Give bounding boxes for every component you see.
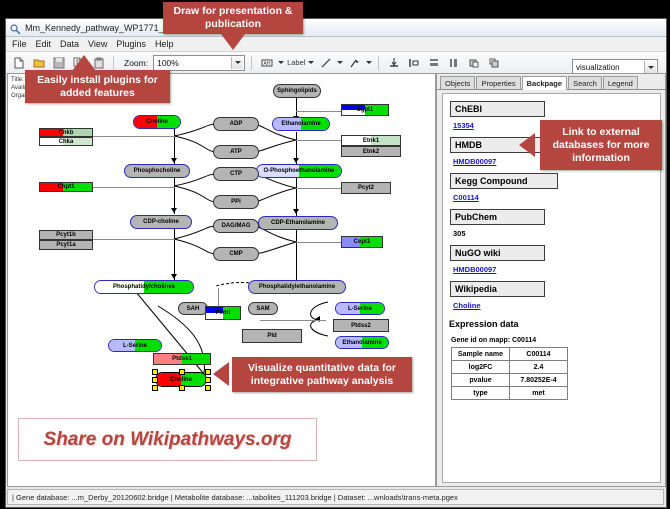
- table-row: Sample name C00114: [452, 348, 568, 361]
- db-value-pubchem: 305: [453, 229, 660, 238]
- node-label: Ptdss1: [172, 356, 192, 362]
- expression-table: Sample name C00114 log2FC 2.4 pvalue 7.8…: [451, 347, 568, 400]
- datanode-icon[interactable]: AH: [258, 54, 275, 71]
- edge-sgpl1-reaction: [296, 111, 341, 112]
- edge-cept1-reaction: [296, 242, 341, 243]
- db-header-pubchem: PubChem: [450, 209, 545, 225]
- node-label: Choline: [170, 377, 192, 383]
- same-width-icon[interactable]: [445, 54, 462, 71]
- node-ptdss2[interactable]: Ptdss2: [333, 319, 389, 332]
- node-sgpl1[interactable]: Sgpl1: [341, 104, 389, 116]
- open-folder-icon[interactable]: [30, 54, 47, 71]
- node-label: SAH: [187, 306, 200, 312]
- title-bar: Mm_Kennedy_pathway_WP1771_45176.gpml: [6, 19, 666, 37]
- line-icon[interactable]: [317, 54, 334, 71]
- callout-plugins-pointer: [72, 55, 96, 71]
- selection-handle-nw[interactable]: [152, 369, 158, 375]
- node-label: CDP-choline: [143, 219, 179, 225]
- node-label: Pcyt1b: [56, 232, 76, 238]
- node-cdp-choline[interactable]: CDP-choline: [130, 215, 192, 229]
- callout-visualize: Visualize quantitative data for integrat…: [232, 357, 412, 392]
- node-label: Sphingolipids: [277, 88, 317, 94]
- node-phosphatidylethanolamine[interactable]: Phosphatidylethanolamine: [248, 280, 346, 294]
- node-label: Ethanolamine: [342, 340, 381, 346]
- expr-value-0: C00114: [510, 348, 568, 361]
- callout-visualize-pointer: [213, 362, 229, 386]
- node-label: Etnk1: [363, 138, 379, 144]
- expr-value-3: met: [510, 387, 568, 400]
- selection-handle-se[interactable]: [205, 385, 211, 391]
- node-label: Etnk2: [363, 149, 379, 155]
- visualization-value: visualization: [576, 63, 620, 72]
- callout-link: Link to external databases for more info…: [540, 120, 662, 170]
- align-left-icon[interactable]: [405, 54, 422, 71]
- edge-pld-reaction: [260, 320, 296, 321]
- node-pcyt2[interactable]: Pcyt2: [341, 182, 391, 194]
- menu-item-file[interactable]: File: [12, 39, 27, 49]
- tab-backpage[interactable]: Backpage: [522, 76, 567, 90]
- datanode-dropdown[interactable]: [278, 61, 284, 64]
- edge-chpt1-reaction: [93, 187, 175, 188]
- tab-objects[interactable]: Objects: [440, 76, 475, 89]
- node-label: Pemt: [216, 310, 231, 316]
- chevron-down-icon[interactable]: [231, 57, 243, 69]
- node-label: Chkb: [59, 130, 74, 136]
- node-label: Phosphocholine: [134, 168, 181, 174]
- menu-item-data[interactable]: Data: [60, 39, 79, 49]
- toolbar-separator-1: [113, 56, 114, 70]
- align-top-icon[interactable]: [385, 54, 402, 71]
- selection-handle-w[interactable]: [152, 377, 158, 383]
- interaction-dropdown[interactable]: [366, 61, 372, 64]
- node-cdp-ethanolamine[interactable]: CDP-Ethanolamine: [258, 216, 338, 230]
- callout-draw-pointer: [221, 34, 245, 50]
- node-label: Chpt1: [58, 184, 75, 190]
- pathvisio-icon: [10, 22, 21, 33]
- node-label: CMP: [229, 251, 242, 257]
- node-pcyt1b[interactable]: Pcyt1b: [39, 230, 93, 240]
- edge-etnk-reaction: [296, 140, 341, 141]
- node-ethanolamine-top[interactable]: Ethanolamine: [272, 117, 330, 131]
- callout-share: Share on Wikipathways.org: [18, 418, 317, 461]
- node-adp[interactable]: ADP: [213, 117, 259, 131]
- node-cept1[interactable]: Cept1: [341, 236, 383, 248]
- zoom-value: 100%: [157, 58, 179, 68]
- expr-key-1: log2FC: [452, 361, 510, 374]
- menu-item-edit[interactable]: Edit: [36, 39, 52, 49]
- expression-data-title: Expression data: [449, 319, 660, 329]
- db-link-kegg[interactable]: C00114: [453, 193, 660, 202]
- expr-key-2: pvalue: [452, 374, 510, 387]
- node-label: Phosphatidylcholines: [113, 284, 175, 290]
- node-label: Ptdss2: [351, 323, 371, 329]
- node-label: DAG/MAG: [222, 223, 251, 229]
- visualization-chevron-icon[interactable]: [644, 61, 656, 73]
- node-label: Pcyt1a: [56, 242, 75, 248]
- gene-id-label: Gene id on mapp: C00114: [451, 337, 660, 344]
- toolbar-separator-3: [378, 56, 379, 70]
- node-l-serine-right[interactable]: L-Serine: [335, 302, 385, 315]
- db-link-nugowiki[interactable]: HMDB00097: [453, 265, 660, 274]
- callout-plugins: Easily install plugins for added feature…: [25, 70, 170, 103]
- toolbar-separator-2: [251, 56, 252, 70]
- node-label: Choline: [146, 119, 168, 125]
- node-ethanolamine-bottom[interactable]: Ethanolamine: [335, 336, 389, 349]
- same-height-icon[interactable]: [425, 54, 442, 71]
- node-etnk2[interactable]: Etnk2: [341, 146, 401, 157]
- node-cmp[interactable]: CMP: [213, 247, 259, 261]
- table-row: log2FC 2.4: [452, 361, 568, 374]
- node-pemt[interactable]: Pemt: [205, 306, 241, 320]
- node-ptdss1[interactable]: Ptdss1: [153, 353, 211, 365]
- edge-pemt-anchor: [218, 288, 219, 306]
- arrow-left-4: [315, 316, 320, 322]
- node-label: CTP: [230, 171, 242, 177]
- node-label: L-Serine: [123, 343, 147, 349]
- expr-key-3: type: [452, 387, 510, 400]
- db-header-wikipedia: Wikipedia: [450, 281, 545, 297]
- node-sah[interactable]: SAH: [178, 302, 208, 315]
- node-label: L-Serine: [348, 306, 372, 312]
- menu-item-view[interactable]: View: [88, 39, 107, 49]
- node-label: SAM: [256, 306, 269, 312]
- node-sphingolipids[interactable]: Sphingolipids: [273, 84, 321, 98]
- selection-handle-n[interactable]: [179, 369, 185, 375]
- zoom-label: Zoom:: [124, 58, 148, 68]
- edge-pcyt1-reaction: [93, 239, 175, 240]
- menu-item-help[interactable]: Help: [155, 39, 174, 49]
- node-label: Pcyt2: [358, 185, 374, 191]
- node-label: Ethanolamine: [281, 121, 320, 127]
- expr-value-1: 2.4: [510, 361, 568, 374]
- edge-chk-reaction: [93, 136, 175, 137]
- node-choline-top[interactable]: Choline: [133, 115, 181, 129]
- node-label: ADP: [230, 121, 243, 127]
- node-label: Phosphatidylethanolamine: [259, 284, 335, 290]
- selection-handle-s[interactable]: [179, 385, 185, 391]
- node-phosphatidylcholines[interactable]: Phosphatidylcholines: [94, 280, 194, 294]
- status-bar: | Gene database: ...m_Derby_20120602.bri…: [7, 489, 664, 505]
- screenshot-root: Mm_Kennedy_pathway_WP1771_45176.gpml Fil…: [0, 0, 670, 509]
- node-label: PPi: [231, 199, 241, 205]
- node-o-phosphoethanolamine[interactable]: O-Phosphoethanolamine: [256, 164, 342, 178]
- zoom-combo[interactable]: 100%: [153, 55, 245, 71]
- new-file-icon[interactable]: [10, 54, 27, 71]
- node-pcyt1a[interactable]: Pcyt1a: [39, 240, 93, 250]
- node-sam[interactable]: SAM: [248, 302, 278, 315]
- callout-draw: Draw for presentation & publication: [163, 2, 303, 34]
- edge-pcyt2-reaction: [296, 188, 341, 189]
- selection-handle-sw[interactable]: [152, 385, 158, 391]
- status-text: | Gene database: ...m_Derby_20120602.bri…: [8, 493, 458, 502]
- node-dagmag[interactable]: DAG/MAG: [213, 219, 259, 233]
- share-text: Share on Wikipathways.org: [44, 429, 292, 451]
- table-row: type met: [452, 387, 568, 400]
- expr-value-2: 7.80252E-4: [510, 374, 568, 387]
- side-panel-tabs[interactable]: Objects Properties Backpage Search Legen…: [437, 74, 665, 90]
- save-icon[interactable]: [50, 54, 67, 71]
- table-row: pvalue 7.80252E-4: [452, 374, 568, 387]
- bring-front-icon[interactable]: [465, 54, 482, 71]
- node-label: Pld: [267, 333, 276, 339]
- node-label: CDP-Ethanolamine: [271, 220, 325, 226]
- node-chpt1[interactable]: Chpt1: [39, 182, 93, 192]
- db-header-chebi: ChEBI: [450, 101, 545, 117]
- node-chkb[interactable]: Chkb: [39, 128, 93, 137]
- node-label: Chka: [59, 139, 74, 145]
- db-link-wikipedia[interactable]: Choline: [453, 301, 660, 310]
- db-header-nugowiki: NuGO wiki: [450, 245, 545, 261]
- node-label: Sgpl1: [357, 107, 373, 113]
- node-label: O-Phosphoethanolamine: [263, 168, 334, 174]
- tab-legend[interactable]: Legend: [603, 76, 638, 89]
- edge-ptdss2-reaction: [296, 320, 326, 321]
- expr-key-0: Sample name: [452, 348, 510, 361]
- selection-handle-e[interactable]: [205, 377, 211, 383]
- node-chka[interactable]: Chka: [39, 137, 93, 146]
- svg-text:AH: AH: [263, 61, 270, 67]
- node-l-serine-left[interactable]: L-Serine: [108, 339, 162, 352]
- node-etnk1[interactable]: Etnk1: [341, 135, 401, 146]
- label-button[interactable]: Label: [287, 58, 305, 67]
- node-atp[interactable]: ATP: [213, 145, 259, 159]
- send-back-icon[interactable]: [485, 54, 502, 71]
- tab-search[interactable]: Search: [568, 76, 602, 89]
- interaction-icon[interactable]: [346, 54, 363, 71]
- node-label: ATP: [230, 149, 242, 155]
- selection-handle-ne[interactable]: [205, 369, 211, 375]
- node-label: Cept1: [354, 239, 371, 245]
- db-header-kegg: Kegg Compound: [450, 173, 558, 189]
- callout-link-pointer: [519, 133, 535, 157]
- node-phosphocholine[interactable]: Phosphocholine: [124, 164, 190, 178]
- menu-bar[interactable]: File Edit Data View Plugins Help: [6, 37, 666, 52]
- line-dropdown[interactable]: [337, 61, 343, 64]
- tab-properties[interactable]: Properties: [476, 76, 520, 89]
- node-pld[interactable]: Pld: [242, 329, 302, 343]
- menu-item-plugins[interactable]: Plugins: [116, 39, 146, 49]
- node-ppi[interactable]: PPi: [213, 195, 259, 209]
- label-dropdown[interactable]: [308, 61, 314, 64]
- node-ctp[interactable]: CTP: [213, 167, 259, 181]
